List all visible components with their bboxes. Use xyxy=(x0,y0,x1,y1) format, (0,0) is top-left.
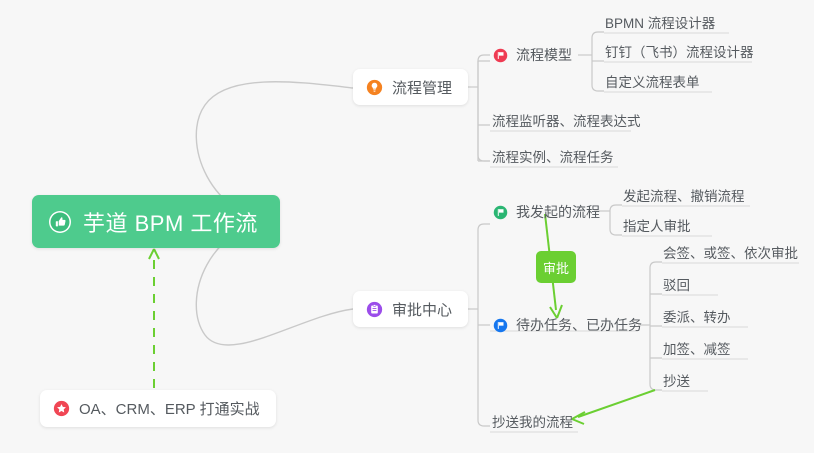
branch-node-approval-center[interactable]: 审批中心 xyxy=(353,291,468,327)
arrow-cc-to-ccmine xyxy=(578,390,655,417)
leaf-node-delegate-transfer[interactable]: 委派、转办 xyxy=(659,306,735,330)
leaf-node-start-cancel-process[interactable]: 发起流程、撤销流程 xyxy=(619,185,749,209)
branch-node-process-management[interactable]: 流程管理 xyxy=(353,69,468,105)
mindmap-canvas: 芋道 BPM 工作流 流程管理 流程模型 BPMN 流程设计器 钉钉（飞书）流程… xyxy=(0,0,814,453)
flag-icon xyxy=(493,48,508,63)
leaf-node-dingtalk-designer[interactable]: 钉钉（飞书）流程设计器 xyxy=(601,41,758,65)
root-label: 芋道 BPM 工作流 xyxy=(83,206,258,238)
note-label-integration: OA、CRM、ERP 打通实战 xyxy=(79,398,260,419)
sub-node-process-model[interactable]: 流程模型 xyxy=(493,43,572,67)
flag-icon xyxy=(493,318,508,333)
leaf-node-assignee-approval[interactable]: 指定人审批 xyxy=(619,215,695,239)
leaf-node-cc-to-me[interactable]: 抄送我的流程 xyxy=(488,411,577,435)
leaf-node-custom-form[interactable]: 自定义流程表单 xyxy=(601,71,704,95)
star-icon xyxy=(53,400,70,417)
flag-icon xyxy=(493,205,508,220)
clipboard-icon xyxy=(366,301,383,318)
thumbs-up-icon xyxy=(48,210,72,234)
leaf-node-add-remove-sign[interactable]: 加签、减签 xyxy=(659,338,735,362)
sub-node-my-started-processes[interactable]: 我发起的流程 xyxy=(493,200,600,224)
note-node-integration[interactable]: OA、CRM、ERP 打通实战 xyxy=(40,390,276,427)
sub-label-my-started-processes: 我发起的流程 xyxy=(516,202,600,222)
leaf-node-bpmn-designer[interactable]: BPMN 流程设计器 xyxy=(601,12,719,36)
arrowhead-note-to-root xyxy=(149,249,159,259)
leaf-node-cc[interactable]: 抄送 xyxy=(659,370,694,394)
leaf-node-instance-task[interactable]: 流程实例、流程任务 xyxy=(488,146,618,170)
leaf-node-reject[interactable]: 驳回 xyxy=(659,274,694,298)
sub-label-todo-done-tasks: 待办任务、已办任务 xyxy=(516,315,642,335)
wire-branch2-bracket xyxy=(478,224,490,426)
branch-label-process-management: 流程管理 xyxy=(392,77,452,98)
leaf-node-countersign[interactable]: 会签、或签、依次审批 xyxy=(659,242,802,266)
sub-node-todo-done-tasks[interactable]: 待办任务、已办任务 xyxy=(493,313,642,337)
annotation-badge-approval[interactable]: 审批 xyxy=(536,251,576,283)
lightbulb-icon xyxy=(366,79,383,96)
annotation-badge-label: 审批 xyxy=(543,258,569,277)
branch-label-approval-center: 审批中心 xyxy=(392,299,452,320)
leaf-node-listener-expression[interactable]: 流程监听器、流程表达式 xyxy=(488,110,645,134)
root-node[interactable]: 芋道 BPM 工作流 xyxy=(32,195,280,248)
sub-label-process-model: 流程模型 xyxy=(516,45,572,65)
